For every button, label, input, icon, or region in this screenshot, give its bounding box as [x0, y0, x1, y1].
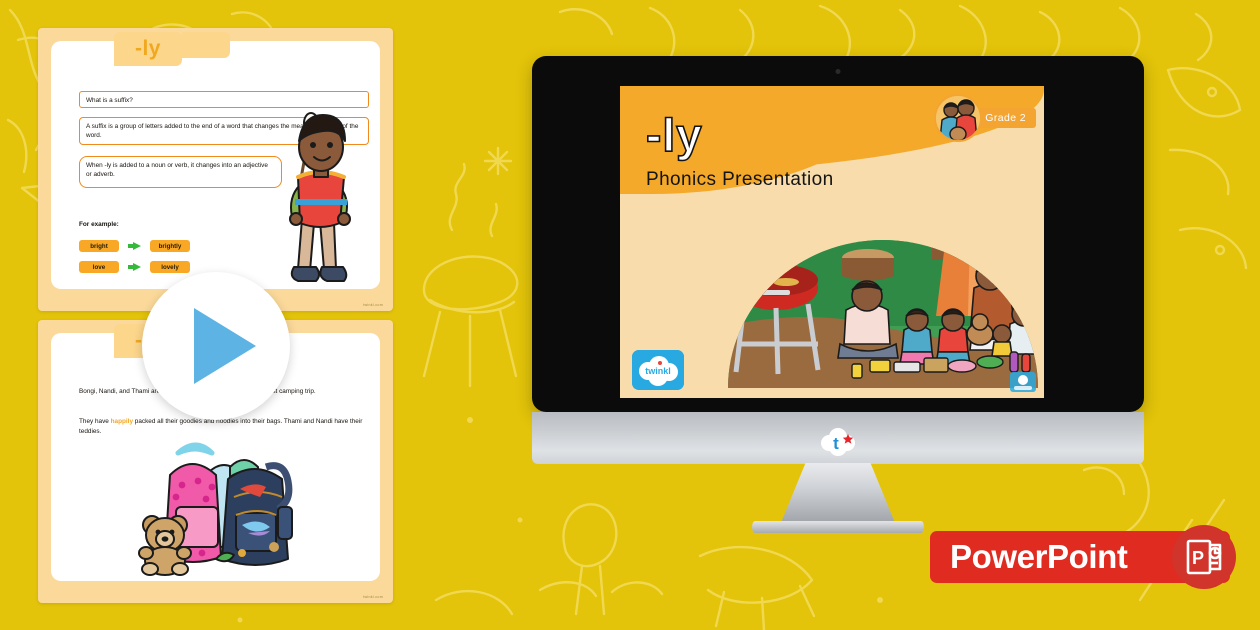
- card-2-watermark: twinkl.com: [363, 595, 383, 599]
- slide-subtitle: Phonics Presentation: [646, 169, 834, 191]
- backpacks-and-teddy-illustration: [116, 429, 316, 577]
- play-button[interactable]: [142, 272, 290, 420]
- svg-text:twinkl: twinkl: [645, 366, 671, 376]
- boy-with-marshmallow-illustration: [264, 99, 374, 289]
- highlighted-word: happily: [111, 418, 133, 425]
- example-heading: For example:: [79, 221, 119, 228]
- grade-avatar: [934, 94, 982, 142]
- presentation-slide: -ly Phonics Presentation Grade 2: [620, 86, 1044, 398]
- screenshot-stage: -ly What is a suffix? A suffix is a grou…: [0, 0, 1260, 630]
- card-1-tab: -ly: [114, 32, 182, 66]
- arrow-right-icon: [128, 263, 141, 271]
- example-suffixed-word-1: brightly: [150, 240, 190, 252]
- example-row-2: love lovely: [79, 261, 190, 273]
- slide-preview-card-1[interactable]: -ly What is a suffix? A suffix is a grou…: [38, 28, 393, 311]
- card-1-tab-label: -ly: [114, 32, 182, 66]
- card-1-content: What is a suffix? A suffix is a group of…: [51, 41, 380, 289]
- monitor-stand-foot: [752, 521, 924, 533]
- arrow-right-icon: [128, 242, 141, 250]
- svg-text:P: P: [1192, 548, 1204, 568]
- slide-title: -ly: [646, 114, 703, 158]
- story-line-2-before: They have: [79, 418, 111, 425]
- example-suffixed-word-2: lovely: [150, 261, 190, 273]
- powerpoint-badge: PowerPoint P: [930, 531, 1230, 583]
- powerpoint-icon: P: [1172, 525, 1236, 589]
- monitor-screen[interactable]: -ly Phonics Presentation Grade 2: [620, 86, 1044, 398]
- example-base-word-2: love: [79, 261, 119, 273]
- example-base-word-1: bright: [79, 240, 119, 252]
- svg-text:t: t: [833, 434, 839, 453]
- monitor-base: t: [532, 412, 1144, 464]
- slide-twinkl-logo: twinkl: [632, 350, 684, 390]
- powerpoint-label: PowerPoint: [950, 531, 1128, 583]
- example-row-1: bright brightly: [79, 240, 190, 252]
- monitor-display: -ly Phonics Presentation Grade 2: [532, 56, 1144, 412]
- twinkl-cloud-logo: t: [815, 426, 861, 456]
- play-triangle-icon: [194, 308, 256, 384]
- slide-watermark-logo: [1010, 372, 1036, 392]
- webcam-dot-icon: [836, 69, 841, 74]
- suffix-note-box: When -ly is added to a noun or verb, it …: [79, 156, 282, 188]
- card-1-watermark: twinkl.com: [363, 303, 383, 307]
